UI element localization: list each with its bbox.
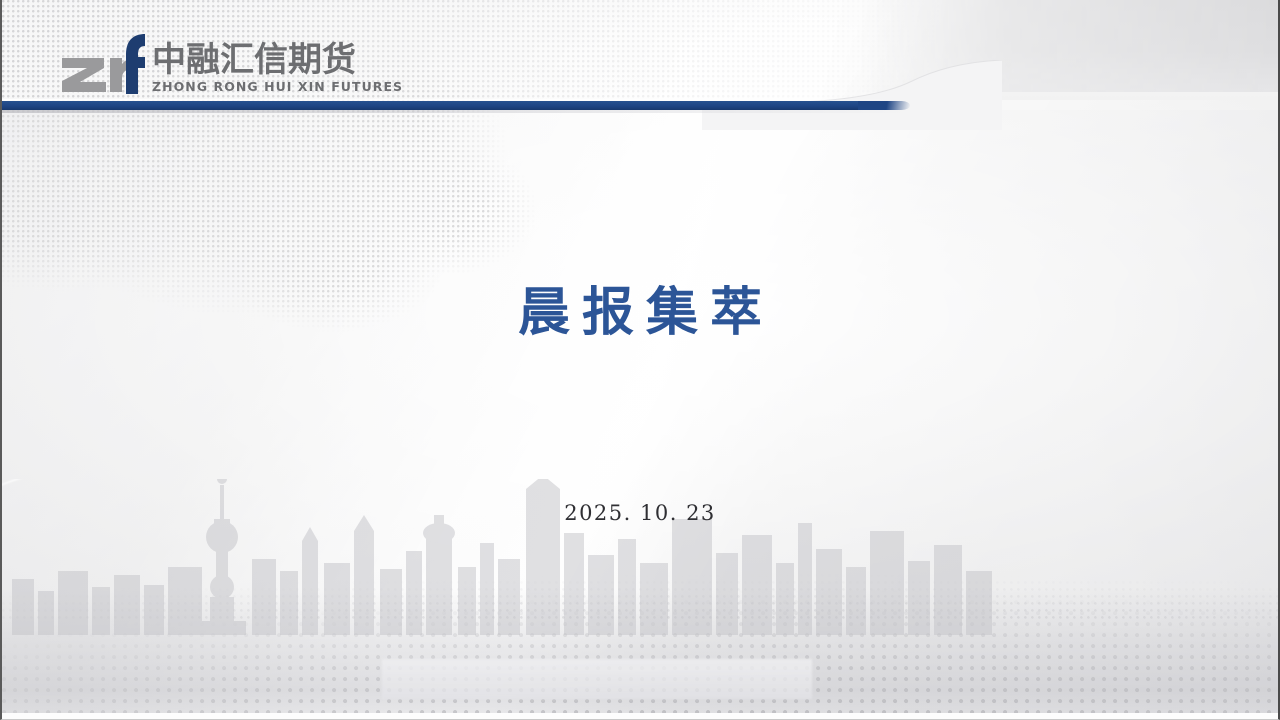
header-accent-bar [2,99,910,112]
accent-bar-fill [2,101,882,110]
bottom-edge [2,713,1278,719]
presentation-slide: 中融汇信期货 ZHONG RONG HUI XIN FUTURES 晨报集萃 2… [0,0,1280,720]
logo-company-name-en: ZHONG RONG HUI XIN FUTURES [152,81,403,94]
accent-bar-taper-cap [858,101,910,110]
slide-title: 晨报集萃 [2,284,1278,341]
slide-date: 2025. 10. 23 [2,501,1278,525]
zrf-logo-mark [60,32,146,94]
company-logo: 中融汇信期货 ZHONG RONG HUI XIN FUTURES [60,32,403,94]
accent-bar-shadow [2,110,910,113]
logo-company-name-cn: 中融汇信期货 [152,43,356,77]
header-curve-decoration [702,60,1002,130]
logo-text-block: 中融汇信期货 ZHONG RONG HUI XIN FUTURES [152,43,403,95]
